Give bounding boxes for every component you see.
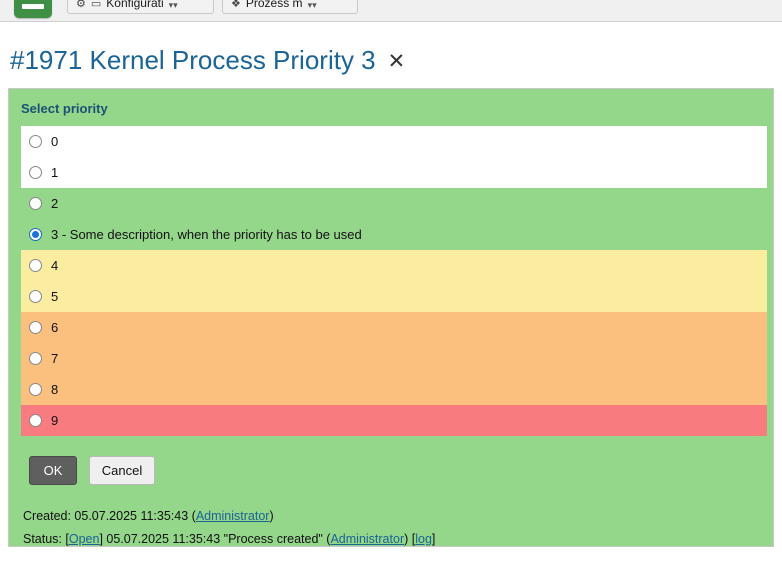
cancel-button[interactable]: Cancel — [89, 456, 155, 485]
radio-button-5[interactable] — [29, 290, 42, 303]
page-title: #1971 Kernel Process Priority 3 — [10, 47, 376, 73]
toolbar-button-konfiguration-label: Konfigurati — [106, 0, 163, 10]
dialog-button-row: OK Cancel — [9, 436, 773, 485]
top-toolbar: ⚙ ▭ Konfigurati ▾▾ ❖ Prozess m ▾▾ — [0, 0, 782, 22]
priority-option-label-0: 0 — [51, 134, 58, 149]
priority-group-red: 9 — [21, 405, 767, 436]
status-state-link[interactable]: Open — [69, 532, 100, 546]
priority-option-5[interactable]: 5 — [21, 281, 767, 312]
priority-option-3[interactable]: 3 - Some description, when the priority … — [21, 219, 767, 250]
priority-option-0[interactable]: 0 — [21, 126, 767, 157]
status-prefix: Status: [ — [23, 532, 69, 546]
app-logo-icon[interactable] — [14, 0, 52, 18]
priority-group-yellow: 45 — [21, 250, 767, 312]
record-meta: Created: 05.07.2025 11:35:43 (Administra… — [9, 485, 773, 551]
select-priority-panel: Select priority 0123 - Some description,… — [8, 88, 774, 547]
priority-option-8[interactable]: 8 — [21, 374, 767, 405]
radio-button-6[interactable] — [29, 321, 42, 334]
page-header: #1971 Kernel Process Priority 3 ✕ — [0, 30, 782, 82]
priority-option-label-5: 5 — [51, 289, 58, 304]
priority-option-list: 0123 - Some description, when the priori… — [9, 126, 773, 436]
priority-option-label-6: 6 — [51, 320, 58, 335]
priority-option-1[interactable]: 1 — [21, 157, 767, 188]
status-log-link[interactable]: log — [415, 532, 432, 546]
radio-button-0[interactable] — [29, 135, 42, 148]
radio-button-3[interactable] — [29, 228, 42, 241]
chevron-down-icon: ▾▾ — [169, 1, 178, 10]
radio-button-1[interactable] — [29, 166, 42, 179]
process-icon: ❖ — [231, 0, 241, 10]
created-line: Created: 05.07.2025 11:35:43 (Administra… — [23, 505, 773, 528]
created-prefix: Created: 05.07.2025 11:35:43 ( — [23, 509, 196, 523]
radio-button-7[interactable] — [29, 352, 42, 365]
priority-option-label-8: 8 — [51, 382, 58, 397]
priority-option-label-1: 1 — [51, 165, 58, 180]
status-between: ) [ — [404, 532, 415, 546]
priority-option-4[interactable]: 4 — [21, 250, 767, 281]
radio-button-9[interactable] — [29, 414, 42, 427]
priority-option-label-7: 7 — [51, 351, 58, 366]
status-line: Status: [Open] 05.07.2025 11:35:43 "Proc… — [23, 528, 773, 551]
priority-option-label-9: 9 — [51, 413, 58, 428]
panel-heading: Select priority — [9, 101, 773, 126]
radio-button-8[interactable] — [29, 383, 42, 396]
created-user-link[interactable]: Administrator — [196, 509, 270, 523]
priority-group-white: 01 — [21, 126, 767, 188]
document-icon: ▭ — [91, 0, 101, 10]
priority-option-label-2: 2 — [51, 196, 58, 211]
status-middle: ] 05.07.2025 11:35:43 "Process created" … — [99, 532, 330, 546]
priority-option-label-3: 3 - Some description, when the priority … — [51, 227, 362, 242]
status-suffix: ] — [432, 532, 435, 546]
priority-option-9[interactable]: 9 — [21, 405, 767, 436]
priority-group-orange: 678 — [21, 312, 767, 405]
priority-option-7[interactable]: 7 — [21, 343, 767, 374]
status-user-link[interactable]: Administrator — [330, 532, 404, 546]
priority-option-label-4: 4 — [51, 258, 58, 273]
gear-icon: ⚙ — [76, 0, 86, 10]
app-logo-glyph — [22, 4, 44, 9]
toolbar-button-prozess[interactable]: ❖ Prozess m ▾▾ — [222, 0, 358, 14]
created-suffix: ) — [269, 509, 273, 523]
radio-button-2[interactable] — [29, 197, 42, 210]
priority-group-green: 23 - Some description, when the priority… — [21, 188, 767, 250]
close-icon[interactable]: ✕ — [388, 51, 406, 72]
radio-button-4[interactable] — [29, 259, 42, 272]
chevron-down-icon: ▾▾ — [308, 1, 317, 10]
toolbar-button-konfiguration[interactable]: ⚙ ▭ Konfigurati ▾▾ — [67, 0, 214, 14]
priority-option-2[interactable]: 2 — [21, 188, 767, 219]
toolbar-button-prozess-label: Prozess m — [246, 0, 303, 10]
ok-button[interactable]: OK — [29, 456, 77, 485]
toolbar-divider — [0, 22, 782, 30]
priority-option-6[interactable]: 6 — [21, 312, 767, 343]
